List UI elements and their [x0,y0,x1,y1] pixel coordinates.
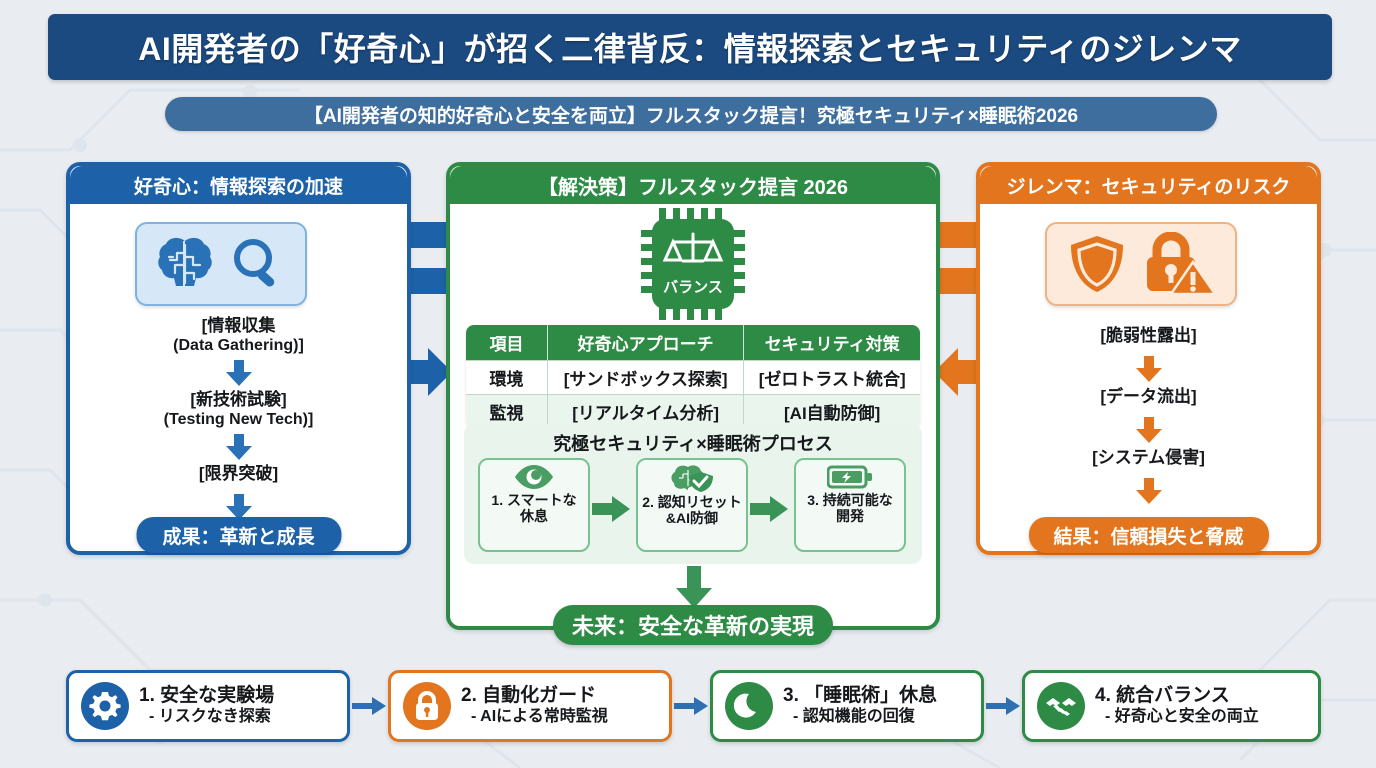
bottom-card-1[interactable]: 1. 安全な実験場 - リスクなき探索 [66,670,350,742]
lock-icon [403,682,451,730]
curiosity-result-pill: 成果：革新と成長 [136,517,341,553]
process-step-3: 3. 持続可能な 開発 [794,458,906,552]
future-pill-text: 未来：安全な革新の実現 [572,609,814,641]
table-row: 監視 [リアルタイム分析] [AI自動防御] [466,394,920,428]
page-title: AI開発者の「好奇心」が招く二律背反：情報探索とセキュリティのジレンマ [48,14,1332,80]
process-step-3-label: 3. 持続可能な 開発 [807,492,893,524]
magnifier-icon [229,235,287,293]
brain-icon [155,235,215,293]
solution-panel-header-text: 【解決策】フルスタック提言 2026 [538,171,848,200]
curiosity-step-2: [新技術試験] (Testing New Tech)] [70,390,407,430]
table-cell-0-1: [サンドボックス探索] [548,360,744,394]
down-arrow-r3 [1136,478,1162,504]
solution-panel-header: 【解決策】フルスタック提言 2026 [450,166,936,204]
table-cell-0-0: 環境 [466,360,548,394]
process-step-1: 1. スマートな 休息 [478,458,590,552]
table-col-2: セキュリティ対策 [744,325,920,360]
gear-icon [81,682,129,730]
risk-panel-header-text: ジレンマ：セキュリティのリスク [1007,172,1291,199]
curiosity-step-1: [情報収集 (Data Gathering)] [70,316,407,356]
bottom-card-4[interactable]: 4. 統合バランス - 好奇心と安全の両立 [1022,670,1321,742]
lock-icon [1141,232,1215,296]
page-subtitle-text: 【AI開発者の知的好奇心と安全を両立】フルスタック提言！究極セキュリティ×睡眠術… [304,101,1078,128]
future-pill: 未来：安全な革新の実現 [553,605,833,645]
table-row: 環境 [サンドボックス探索] [ゼロトラスト統合] [466,360,920,394]
bottom-card-2-title: 2. 自動化ガード [461,685,608,707]
bottom-arrow-3 [986,697,1020,715]
process-step-1-label: 1. スマートな 休息 [491,492,576,524]
table-cell-1-1: [リアルタイム分析] [548,394,744,428]
down-arrow-2 [226,434,252,460]
risk-panel: ジレンマ：セキュリティのリスク [976,162,1321,555]
table-col-1: 好奇心アプローチ [548,325,744,360]
risk-result-text: 結果：信頼損失と脅威 [1053,522,1243,549]
shield-icon [1067,233,1127,295]
down-arrow-r1 [1136,356,1162,382]
process-subpanel: 究極セキュリティ×睡眠術プロセス 1. スマートな 休息 [464,424,922,564]
page-subtitle: 【AI開発者の知的好奇心と安全を両立】フルスタック提言！究極セキュリティ×睡眠術… [165,97,1217,131]
curiosity-step-2-main: [新技術試験] [190,390,286,409]
process-step-2-label: 2. 認知リセット &AI防御 [642,494,742,526]
process-step-2: 2. 認知リセット &AI防御 [636,458,748,552]
curiosity-panel-header-text: 好奇心：情報探索の加速 [134,172,343,199]
handshake-icon [1037,682,1085,730]
risk-icon-box [1045,222,1237,306]
curiosity-step-2-sub: (Testing New Tech)] [70,410,407,429]
down-arrow-1 [226,360,252,386]
down-arrow-r2 [1136,417,1162,443]
balance-chip-label: バランス [663,279,723,296]
curiosity-step-3-main: [限界突破] [199,464,278,483]
risk-step-3-text: [システム侵害] [1092,448,1205,467]
process-title: 究極セキュリティ×睡眠術プロセス [464,430,922,456]
curiosity-result-text: 成果：革新と成長 [162,522,314,549]
risk-step-1: [脆弱性露出] [980,326,1317,346]
process-arrow-1 [592,496,630,522]
curiosity-step-1-main: [情報収集 [202,316,276,335]
bottom-card-1-title: 1. 安全な実験場 [139,685,274,707]
bottom-card-3-title: 3. 「睡眠術」休息 [783,685,937,707]
curiosity-panel-body: [情報収集 (Data Gathering)] [新技術試験] (Testing… [70,204,407,551]
bottom-arrow-2 [674,697,708,715]
bottom-arrow-1 [352,697,386,715]
balance-chip-icon: バランス [641,208,745,320]
curiosity-panel: 好奇心：情報探索の加速 [情報収集 [66,162,411,555]
process-arrow-2 [750,496,788,522]
moon-icon [725,682,773,730]
bottom-card-3-subtitle: - 認知機能の回復 [783,707,937,726]
table-header-row: 項目 好奇心アプローチ セキュリティ対策 [466,325,920,360]
bottom-card-2[interactable]: 2. 自動化ガード - AIによる常時監視 [388,670,672,742]
curiosity-step-3: [限界突破] [70,464,407,484]
risk-step-3: [システム侵害] [980,448,1317,468]
curiosity-icon-box [135,222,307,306]
table-cell-1-0: 監視 [466,394,548,428]
bottom-card-1-subtitle: - リスクなき探索 [139,707,274,726]
eye-icon [514,464,554,490]
curiosity-panel-header: 好奇心：情報探索の加速 [70,166,407,204]
curiosity-step-1-sub: (Data Gathering)] [70,336,407,355]
risk-step-2: [データ流出] [980,387,1317,407]
bottom-card-3[interactable]: 3. 「睡眠術」休息 - 認知機能の回復 [710,670,984,742]
risk-step-2-text: [データ流出] [1100,387,1196,406]
brain-shield-check-icon [671,464,713,492]
battery-charge-icon [827,464,873,490]
table-col-0: 項目 [466,325,548,360]
table-cell-0-2: [ゼロトラスト統合] [744,360,920,394]
bottom-card-2-subtitle: - AIによる常時監視 [461,707,608,726]
table-cell-1-2: [AI自動防御] [744,394,920,428]
comparison-table: 項目 好奇心アプローチ セキュリティ対策 環境 [サンドボックス探索] [ゼロト… [466,325,920,428]
risk-step-1-text: [脆弱性露出] [1100,326,1196,345]
future-down-arrow [676,566,712,608]
risk-panel-body: [脆弱性露出] [データ流出] [システム侵害] [980,204,1317,551]
risk-panel-header: ジレンマ：セキュリティのリスク [980,166,1317,204]
page-title-text: AI開発者の「好奇心」が招く二律背反：情報探索とセキュリティのジレンマ [138,24,1242,70]
bottom-card-4-subtitle: - 好奇心と安全の両立 [1095,707,1259,726]
bottom-card-4-title: 4. 統合バランス [1095,685,1259,707]
risk-result-pill: 結果：信頼損失と脅威 [1029,517,1269,553]
